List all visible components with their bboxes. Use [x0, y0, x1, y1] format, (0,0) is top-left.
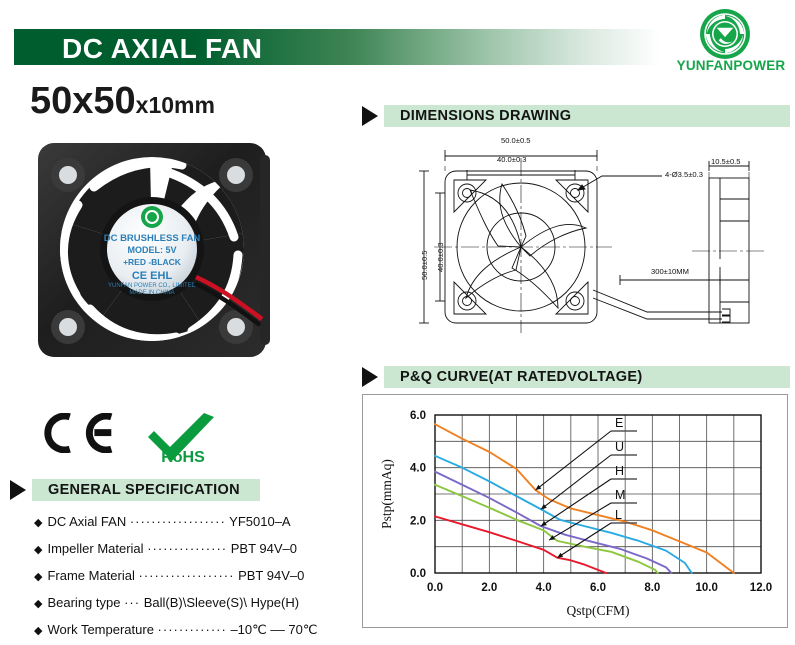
- dim-label-hole-spec: 4-Ø3.5±0.3: [665, 170, 703, 179]
- section-title-pq-curve: P&Q CURVE(AT RATEDVOLTAGE): [400, 369, 642, 385]
- x-tick-label: 4.0: [536, 582, 552, 594]
- spec-label: Bearing type: [47, 595, 120, 610]
- datasheet-page: DC AXIAL FAN YUNFANPOWER 50x50x10mm: [0, 0, 795, 634]
- dim-label-cable-length: 300±10MM: [651, 267, 689, 276]
- spec-label: Work Temperature: [47, 622, 153, 637]
- product-size: 50x50x10mm: [30, 80, 215, 123]
- legend-label-E: E: [615, 416, 623, 430]
- spec-dots: ···: [124, 595, 140, 610]
- brand-logo: YUNFANPOWER: [672, 8, 790, 76]
- section-title-general-spec: GENERAL SPECIFICATION: [48, 482, 240, 498]
- section-header-general-spec: GENERAL SPECIFICATION: [10, 479, 350, 501]
- spec-value: YF5010–A: [229, 514, 290, 529]
- brand-name: YUNFANPOWER: [672, 58, 790, 73]
- spec-value: PBT 94V–0: [231, 541, 297, 556]
- spec-dots: ··················: [130, 514, 226, 529]
- x-tick-label: 0.0: [427, 582, 443, 594]
- x-tick-label: 6.0: [590, 582, 606, 594]
- spec-label: Frame Material: [47, 568, 134, 583]
- spec-value: Ball(B)\Sleeve(S)\ Hype(H): [144, 595, 299, 610]
- diamond-bullet-icon: ◆: [34, 598, 42, 610]
- chart-series-U: [435, 456, 692, 573]
- triangle-bullet-icon: [362, 367, 378, 387]
- spec-label: Impeller Material: [47, 541, 143, 556]
- legend-arrowhead-H: [541, 521, 547, 526]
- dim-label-thickness: 10.5±0.5: [711, 157, 741, 166]
- product-size-main: 50x50: [30, 80, 136, 122]
- legend-leader-L: [557, 523, 611, 558]
- diamond-bullet-icon: ◆: [34, 571, 42, 583]
- triangle-bullet-icon: [10, 480, 26, 500]
- dim-label-outer-height: 50.0±0.5: [420, 250, 429, 280]
- diamond-bullet-icon: ◆: [34, 544, 42, 556]
- chart-series-E: [435, 424, 734, 573]
- diamond-bullet-icon: ◆: [34, 625, 42, 637]
- y-tick-label: 0.0: [410, 568, 426, 580]
- label-line4: CE EHL: [132, 270, 173, 282]
- spec-row: ◆Impeller Material ··············· PBT 9…: [34, 535, 364, 562]
- spec-row: ◆Work Temperature ············· –10℃ –– …: [34, 616, 364, 643]
- spec-dots: ··················: [139, 568, 235, 583]
- x-tick-label: 12.0: [750, 582, 772, 594]
- legend-leader-H: [541, 479, 611, 526]
- diamond-bullet-icon: ◆: [34, 517, 42, 529]
- triangle-bullet-icon: [362, 106, 378, 126]
- legend-leader-E: [536, 431, 611, 490]
- spec-value: –10℃ –– 70℃: [230, 622, 317, 637]
- x-tick-label: 2.0: [481, 582, 497, 594]
- dim-label-outer-width: 50.0±0.5: [501, 136, 531, 145]
- legend-arrowhead-L: [557, 553, 563, 558]
- spec-row: ◆DC Axial FAN ·················· YF5010–…: [34, 508, 364, 535]
- ce-mark-icon: [40, 413, 118, 453]
- page-title: DC AXIAL FAN: [62, 33, 262, 65]
- section-header-pq-curve: P&Q CURVE(AT RATEDVOLTAGE): [362, 366, 782, 388]
- spec-value: PBT 94V–0: [238, 568, 304, 583]
- label-line2: MODEL: 5V: [127, 245, 176, 255]
- spec-dots: ···············: [147, 541, 227, 556]
- x-axis-title: Qstp(CFM): [566, 603, 629, 618]
- y-tick-label: 2.0: [410, 515, 426, 527]
- legend-label-L: L: [615, 508, 622, 522]
- section-header-dimensions: DIMENSIONS DRAWING: [362, 105, 782, 127]
- dim-label-hole-pitch-h: 40.0±0.3: [497, 155, 527, 164]
- label-line3: +RED -BLACK: [123, 257, 182, 267]
- label-line6: MADE IN CHINA: [129, 290, 174, 296]
- specification-list: ◆DC Axial FAN ·················· YF5010–…: [34, 508, 364, 643]
- spec-dots: ·············: [158, 622, 227, 637]
- legend-leader-M: [549, 503, 611, 540]
- y-tick-label: 4.0: [410, 463, 426, 475]
- pq-curve-chart: 0.02.04.06.08.010.012.00.02.04.06.0Qstp(…: [362, 394, 788, 628]
- label-line1: DC BRUSHLESS FAN: [104, 233, 201, 244]
- legend-label-H: H: [615, 464, 624, 478]
- x-tick-label: 8.0: [644, 582, 660, 594]
- y-axis-title: Pstp(mmAq): [379, 459, 394, 529]
- pq-chart-canvas: 0.02.04.06.08.010.012.00.02.04.06.0Qstp(…: [363, 395, 785, 625]
- fan-product-photo: DC BRUSHLESS FAN MODEL: 5V +RED -BLACK C…: [24, 137, 296, 365]
- dim-label-hole-pitch-v: 40.0±0.3: [436, 242, 445, 272]
- yunfanpower-swirl-icon: [699, 8, 751, 60]
- label-line5: YUNFAN POWER CO., LIMITED: [108, 283, 197, 289]
- certification-marks: RoHS: [40, 405, 240, 475]
- spec-row: ◆Bearing type ··· Ball(B)\Sleeve(S)\ Hyp…: [34, 589, 364, 616]
- legend-leader-U: [541, 455, 611, 509]
- section-title-dimensions: DIMENSIONS DRAWING: [400, 108, 571, 124]
- product-size-suffix: x10mm: [136, 92, 215, 118]
- spec-row: ◆Frame Material ·················· PBT 9…: [34, 562, 364, 589]
- legend-label-U: U: [615, 440, 624, 454]
- y-tick-label: 6.0: [410, 410, 426, 422]
- rohs-label: RoHS: [140, 449, 226, 467]
- spec-label: DC Axial FAN: [47, 514, 126, 529]
- x-tick-label: 10.0: [695, 582, 717, 594]
- legend-label-M: M: [615, 488, 625, 502]
